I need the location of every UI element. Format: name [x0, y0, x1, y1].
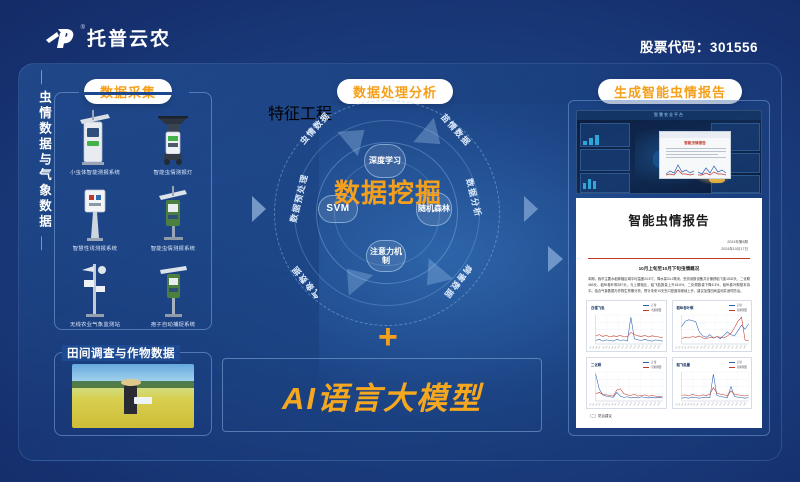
mini-chart-xaxis: 10.110.210.310.410.510.610.710.810.910.1… — [589, 349, 664, 350]
report-mini-chart: 稻纵卷叶螟正常当期预警10.110.210.310.410.510.610.71… — [672, 300, 753, 352]
mini-chart-title: 白僵飞虱 — [591, 305, 605, 310]
device-item: 智能虫情测报系统 — [136, 180, 210, 252]
legend-label: 正常 — [737, 303, 742, 307]
report-paragraph: 本期，我市主要水稻种植区域平均温度24.5℃，降水量34.2毫米，虫情测报设备共… — [588, 277, 750, 294]
report-mini-chart: 二化螟正常当期预警10.110.210.310.410.510.610.710.… — [586, 357, 667, 409]
mini-chart-plot — [675, 370, 750, 406]
legend-swatch — [643, 367, 649, 368]
report-meta: 2024年第8期 2024年10月17日 — [576, 239, 762, 253]
legend-label: 当期预警 — [651, 308, 661, 312]
legend-swatch — [729, 310, 735, 311]
report-title: 智能虫情报告 — [576, 210, 762, 229]
weather-station-icon — [58, 256, 132, 318]
mini-chart-plot — [675, 313, 750, 349]
dashboard-panel — [580, 149, 630, 171]
sample-tray — [134, 397, 152, 404]
legend-entry: 正常 — [729, 303, 747, 307]
mini-chart-legend: 正常当期预警 — [729, 303, 747, 312]
pest-report-system-icon — [136, 180, 210, 242]
mini-chart-header: 二化螟正常当期预警 — [589, 360, 664, 369]
device-label: 无线农业气象监测站 — [59, 320, 130, 328]
pest-lamp-icon — [136, 104, 210, 166]
brand-logo: ® 托普云农 — [44, 27, 171, 49]
tp-logo-icon: ® — [44, 27, 80, 49]
device-item: 智慧性诱测报系统 — [58, 180, 132, 252]
node-deep-learning: 深度学习 — [364, 144, 406, 178]
legend-entry: 正常 — [729, 360, 747, 364]
node-attention: 注意力机制 — [366, 240, 406, 272]
legend-label: 当期预警 — [737, 365, 747, 369]
legend-swatch — [729, 367, 735, 368]
legend-swatch — [729, 305, 735, 306]
logo-text: 托普云农 — [87, 30, 171, 49]
mini-chart-header: 稻飞虱量正常当期预警 — [675, 360, 750, 369]
dashboard-panel — [580, 123, 630, 147]
mini-chart-title: 二化螟 — [591, 362, 601, 367]
legend-entry: 当期预警 — [643, 365, 661, 369]
legend-entry: 正常 — [643, 303, 661, 307]
legend-swatch — [729, 362, 735, 363]
dashboard-report-popup: 智能虫情报告 — [659, 131, 731, 179]
legend-entry: 当期预警 — [729, 308, 747, 312]
device-label: 智能虫情测报灯 — [137, 168, 208, 176]
mini-chart-title: 稻纵卷叶螟 — [677, 305, 694, 310]
mini-chart-xaxis: 10.110.210.310.410.510.610.710.810.910.1… — [675, 349, 750, 350]
box-notch — [79, 92, 189, 95]
popup-title: 智能虫情报告 — [684, 141, 706, 146]
registered-mark: ® — [81, 25, 85, 31]
report-arrow — [548, 246, 563, 272]
plus-connector: + — [378, 320, 398, 354]
ai-model-text: AI语言大模型 — [282, 373, 482, 418]
infographic-root: ® 托普云农 股票代码：301556 数据采集 数据处理分析 生成智能虫情报告 … — [0, 0, 800, 482]
device-label: 智慧性诱测报系统 — [59, 244, 130, 252]
legend-label: 正常 — [651, 303, 656, 307]
device-item: 小虫体智能测报系统 — [58, 104, 132, 176]
report-document: 智能虫情报告 2024年第8期 2024年10月17日 10月上旬至10月下旬虫… — [576, 198, 762, 428]
mini-chart-legend: 正常当期预警 — [643, 360, 661, 369]
report-footer: （二）防治建议 — [588, 413, 750, 418]
legend-label: 当期预警 — [651, 365, 661, 369]
ai-model-banner: AI语言大模型 — [222, 358, 542, 432]
device-item: 孢子自动捕捉系统 — [136, 256, 210, 328]
spore-trap-icon — [136, 256, 210, 318]
popup-titlebar — [660, 132, 730, 138]
dashboard-title: 智慧农业平台 — [654, 112, 684, 118]
dashboard-titlebar: 智慧农业平台 — [577, 111, 761, 120]
field-survey-title: 田间调查与作物数据 — [62, 345, 180, 361]
legend-label: 正常 — [737, 360, 742, 364]
report-mini-chart: 稻飞虱量正常当期预警10.110.210.310.410.510.610.710… — [672, 357, 753, 409]
dashboard-screenshot: 智慧农业平台 智能虫情报告 — [576, 110, 762, 194]
device-label: 孢子自动捕捉系统 — [137, 320, 208, 328]
diagram-center-title: 数据挖掘 — [330, 180, 446, 206]
flow-arrow-right — [524, 196, 538, 222]
legend-entry: 当期预警 — [643, 308, 661, 312]
pest-monitor-station-icon — [58, 104, 132, 166]
stock-code: 股票代码：301556 — [640, 36, 758, 56]
report-mini-chart: 白僵飞虱正常当期预警10.110.210.310.410.510.610.710… — [586, 300, 667, 352]
legend-swatch — [643, 310, 649, 311]
report-meta-issue: 2024年第8期 — [576, 239, 748, 246]
collection-vertical-label: 虫情数据与气象数据 — [32, 90, 50, 230]
mini-chart-xaxis: 10.110.210.310.410.510.610.710.810.910.1… — [589, 406, 664, 407]
legend-label: 正常 — [651, 360, 656, 364]
legend-label: 当期预警 — [737, 308, 747, 312]
mini-chart-header: 稻纵卷叶螟正常当期预警 — [675, 303, 750, 312]
device-label: 智能虫情测报系统 — [137, 244, 208, 252]
device-label: 小虫体智能测报系统 — [59, 168, 130, 176]
mini-chart-plot — [589, 370, 664, 406]
report-divider — [588, 258, 750, 260]
pheromone-trap-icon — [58, 180, 132, 242]
mini-chart-title: 稻飞虱量 — [677, 362, 691, 367]
mini-chart-plot — [589, 313, 664, 349]
report-meta-date: 2024年10月17日 — [576, 246, 748, 253]
legend-entry: 正常 — [643, 360, 661, 364]
legend-swatch — [643, 362, 649, 363]
legend-swatch — [643, 305, 649, 306]
data-mining-diagram: 虫情数据 数据预处理 气象数据 苗情数据 数据分析 病害数据 深度学习 SVM … — [268, 100, 512, 326]
mini-chart-legend: 正常当期预警 — [729, 360, 747, 369]
report-subtitle: 10月上旬至10月下旬虫情概况 — [576, 266, 762, 272]
mini-chart-header: 白僵飞虱正常当期预警 — [589, 303, 664, 312]
surveyor-hat — [121, 379, 141, 386]
page-header: ® 托普云农 股票代码：301556 — [0, 0, 800, 70]
device-item: 智能虫情测报灯 — [136, 104, 210, 176]
report-chart-grid: 白僵飞虱正常当期预警10.110.210.310.410.510.610.710… — [586, 300, 752, 409]
device-item: 无线农业气象监测站 — [58, 256, 132, 328]
flow-arrow-left — [252, 196, 266, 222]
device-grid: 小虫体智能测报系统 智能虫情测报灯 — [58, 104, 210, 324]
rice-field-survey-photo — [72, 364, 194, 428]
legend-entry: 当期预警 — [729, 365, 747, 369]
mini-chart-legend: 正常当期预警 — [643, 303, 661, 312]
mini-chart-xaxis: 10.110.210.310.410.510.610.710.810.910.1… — [675, 406, 750, 407]
